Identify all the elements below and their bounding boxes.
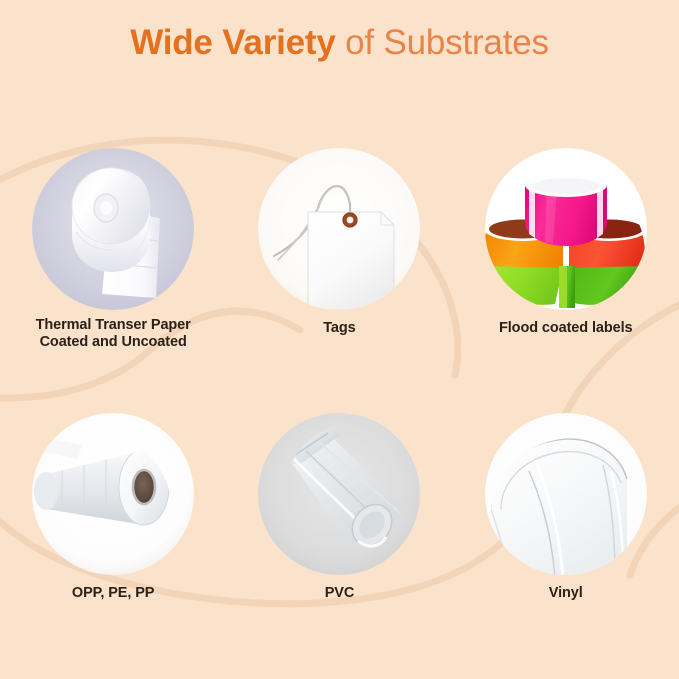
- substrate-item-vinyl: Vinyl: [453, 413, 679, 602]
- pvc-sheet-image: [258, 413, 420, 575]
- substrate-item-label: Tags: [323, 320, 355, 337]
- substrate-item-tags: Tags: [226, 148, 452, 351]
- substrate-item-label: Flood coated labels: [499, 320, 632, 337]
- substrate-item-thermal-transfer-paper: Thermal Transer Paper Coated and Uncoate…: [0, 148, 226, 351]
- substrate-item-flood-coated-labels: Flood coated labels: [453, 148, 679, 351]
- label-roll-image: [32, 148, 194, 310]
- page-title: Wide Variety of Substrates: [0, 25, 679, 60]
- title-light: of Substrates: [336, 23, 549, 62]
- colored-label-rolls-image: [485, 148, 647, 310]
- infographic-page: Wide Variety of Substrates: [0, 0, 679, 679]
- vinyl-sheet-image: [485, 413, 647, 575]
- substrate-item-label: Thermal Transer Paper Coated and Uncoate…: [36, 317, 191, 351]
- substrate-item-pvc: PVC: [226, 413, 452, 602]
- substrate-item-label: PVC: [325, 585, 355, 602]
- substrate-grid: Thermal Transer Paper Coated and Uncoate…: [0, 148, 679, 602]
- substrate-row: OPP, PE, PP: [0, 413, 679, 602]
- substrate-item-label: OPP, PE, PP: [72, 585, 154, 602]
- substrate-item-opp-pe-pp: OPP, PE, PP: [0, 413, 226, 602]
- substrate-row: Thermal Transer Paper Coated and Uncoate…: [0, 148, 679, 351]
- title-strong: Wide Variety: [130, 23, 335, 62]
- hang-tag-image: [258, 148, 420, 310]
- plastic-film-roll-image: [32, 413, 194, 575]
- substrate-item-label: Vinyl: [549, 585, 583, 602]
